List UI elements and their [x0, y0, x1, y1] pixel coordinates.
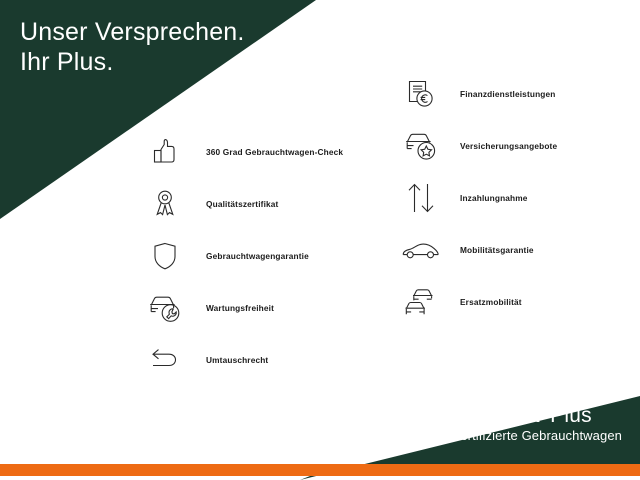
feature-label: Finanzdienstleistungen — [460, 89, 556, 99]
feature-item-warranty: Gebrauchtwagengarantie — [140, 230, 343, 282]
headline-line-1: Unser Versprechen. — [20, 17, 245, 47]
thumbs-up-icon — [140, 130, 190, 174]
feature-item-return: Umtauschrecht — [140, 334, 343, 386]
page-title: Unser Versprechen. Ihr Plus. — [20, 17, 245, 77]
feature-label: 360 Grad Gebrauchtwagen-Check — [206, 147, 343, 157]
return-arrow-icon — [140, 338, 190, 382]
feature-list-left: 360 Grad Gebrauchtwagen-Check Qualitätsz… — [140, 126, 343, 386]
feature-item-replacement: Ersatzmobilität — [396, 276, 557, 328]
document-euro-icon — [396, 72, 446, 116]
car-star-icon — [396, 124, 446, 168]
skoda-plus-logo: ŠKODA Plus Zertifizierte Gebrauchtwagen — [452, 405, 622, 444]
headline-line-2: Ihr Plus. — [20, 47, 245, 77]
car-wrench-icon — [140, 286, 190, 330]
car-side-icon — [396, 228, 446, 272]
feature-item-insurance: Versicherungsangebote — [396, 120, 557, 172]
feature-label: Versicherungsangebote — [460, 141, 557, 151]
feature-label: Umtauschrecht — [206, 355, 268, 365]
logo-brand-text: ŠKODA — [452, 405, 543, 427]
feature-item-check: 360 Grad Gebrauchtwagen-Check — [140, 126, 343, 178]
award-rosette-icon — [140, 182, 190, 226]
feature-label: Ersatzmobilität — [460, 297, 522, 307]
feature-item-financing: Finanzdienstleistungen — [396, 68, 557, 120]
logo-wordmark-row: ŠKODA Plus — [452, 405, 622, 427]
feature-label: Inzahlungnahme — [460, 193, 528, 203]
feature-item-certificate: Qualitätszertifikat — [140, 178, 343, 230]
shield-icon — [140, 234, 190, 278]
feature-label: Qualitätszertifikat — [206, 199, 278, 209]
feature-label: Gebrauchtwagengarantie — [206, 251, 309, 261]
up-down-arrows-icon — [396, 176, 446, 220]
logo-suffix-text: Plus — [550, 405, 592, 427]
feature-label: Wartungsfreiheit — [206, 303, 274, 313]
feature-item-maintenance: Wartungsfreiheit — [140, 282, 343, 334]
logo-tagline: Zertifizierte Gebrauchtwagen — [452, 428, 622, 444]
feature-label: Mobilitätsgarantie — [460, 245, 534, 255]
two-cars-icon — [396, 280, 446, 324]
feature-item-mobility: Mobilitätsgarantie — [396, 224, 557, 276]
feature-item-trade-in: Inzahlungnahme — [396, 172, 557, 224]
feature-list-right: Finanzdienstleistungen Versicherungsange… — [396, 68, 557, 328]
slide-canvas: Unser Versprechen. Ihr Plus. 360 Grad Ge… — [0, 0, 640, 480]
